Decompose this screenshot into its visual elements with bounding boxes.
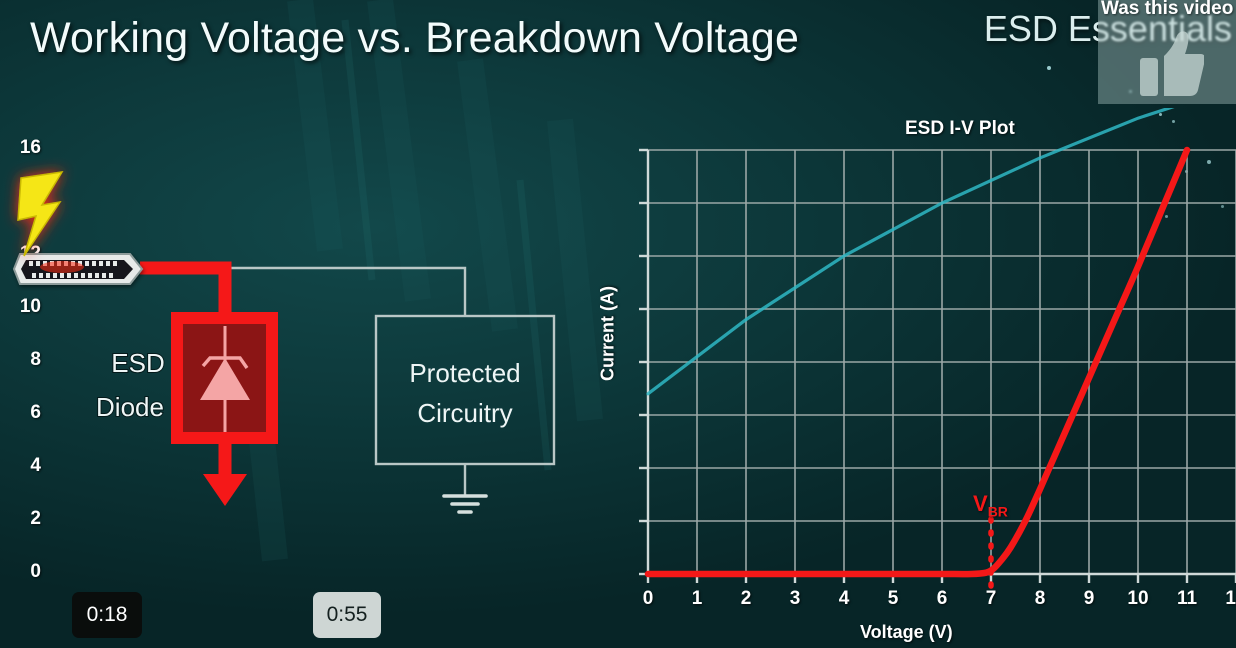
circuit-diagram: ESD Diode Protected Circuitry <box>0 150 600 570</box>
axis-lines <box>639 150 1236 583</box>
lightning-bolt-icon <box>18 172 62 256</box>
grid-lines <box>648 150 1236 574</box>
plot-area <box>575 108 1236 648</box>
esd-iv-chart: ESD I-V Plot Current (A) Voltage (V) 024… <box>575 108 1236 648</box>
current-arrow-icon <box>203 474 247 506</box>
sparkle <box>1047 66 1051 70</box>
esd-diode-label-line2: Diode <box>96 392 164 422</box>
thumb-up-icon[interactable] <box>1140 30 1204 96</box>
protected-circuitry-label-line2: Circuitry <box>417 398 512 428</box>
like-prompt-text: Was this video <box>1101 0 1233 20</box>
protected-circuitry-label-line1: Protected <box>409 358 520 388</box>
breakdown-voltage-label: VBR <box>973 491 1008 519</box>
current-time-badge[interactable]: 0:18 <box>72 592 142 638</box>
hdmi-connector-icon <box>14 254 142 284</box>
total-time-badge[interactable]: 0:55 <box>313 592 381 638</box>
page-title: Working Voltage vs. Breakdown Voltage <box>30 14 799 63</box>
protected-circuitry-box <box>376 316 554 464</box>
esd-diode-label-line1: ESD <box>111 348 164 378</box>
ground-symbol-icon <box>444 496 486 512</box>
